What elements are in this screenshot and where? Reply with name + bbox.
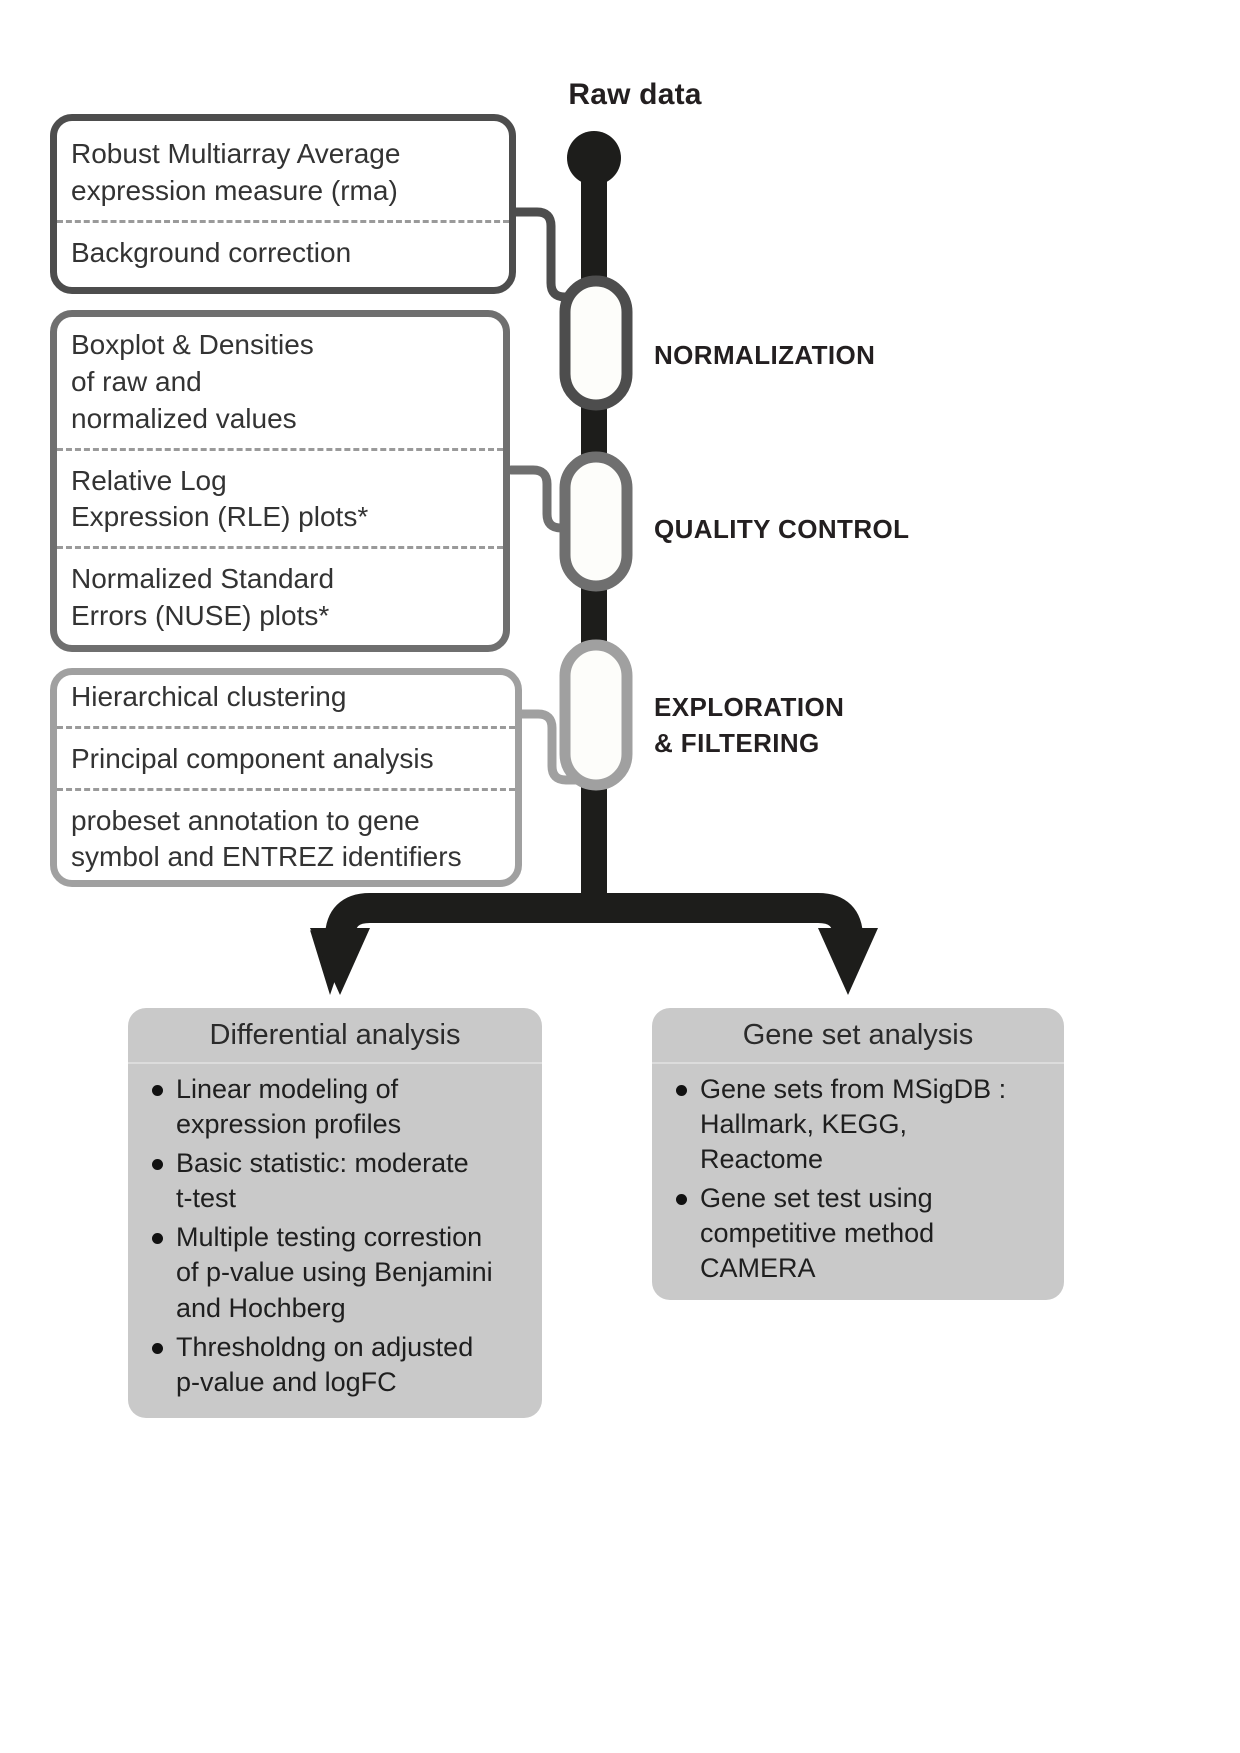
page-title: Raw data [505, 78, 765, 112]
connector-exploration [522, 714, 580, 780]
stage-row: probeset annotation to gene symbol and E… [57, 788, 515, 883]
list-item: Basic statistic: moderate t-test [146, 1146, 528, 1216]
stage-label-quality-control: QUALITY CONTROL [654, 512, 909, 548]
stage-box-normalization: Robust Multiarray Average expression mea… [50, 114, 516, 294]
fork-bar [340, 908, 848, 938]
spine-node-normalization [565, 281, 627, 405]
output-card-gene-set-analysis: Gene set analysis Gene sets from MSigDB … [652, 1008, 1064, 1300]
card-title: Differential analysis [128, 1008, 542, 1064]
connector-quality-control [511, 470, 577, 528]
list-item: Thresholdng on adjusted p-value and logF… [146, 1330, 528, 1400]
stage-row: Principal component analysis [57, 726, 515, 784]
output-card-differential-analysis: Differential analysis Linear modeling of… [128, 1008, 542, 1418]
arrow-right-triangle [818, 928, 878, 995]
diagram-canvas: Raw data Robust Multiarray Average expre… [0, 0, 1240, 1753]
stage-row: Relative Log Expression (RLE) plots* [57, 448, 503, 543]
spine-line [581, 158, 607, 898]
spine-node-quality-control [565, 457, 627, 586]
main-spine [567, 131, 621, 898]
card-bullet-list: Linear modeling of expression profiles B… [128, 1064, 542, 1416]
spine-node-exploration [565, 645, 627, 785]
connector-normalization [516, 212, 579, 297]
card-title: Gene set analysis [652, 1008, 1064, 1064]
list-item: Multiple testing correstion of p-value u… [146, 1220, 528, 1325]
stage-row: Background correction [57, 220, 509, 278]
arrow-left-triangle [310, 928, 370, 995]
stage-label-exploration-filtering: EXPLORATION & FILTERING [654, 690, 844, 762]
card-bullet-list: Gene sets from MSigDB : Hallmark, KEGG, … [652, 1064, 1064, 1300]
list-item: Linear modeling of expression profiles [146, 1072, 528, 1142]
stage-row: Boxplot & Densities of raw and normalize… [57, 321, 503, 444]
raw-data-node-dot [567, 131, 621, 185]
stage-box-quality-control: Boxplot & Densities of raw and normalize… [50, 310, 510, 652]
stage-row: Robust Multiarray Average expression mea… [57, 130, 509, 216]
stage-row: Hierarchical clustering [57, 673, 515, 722]
stage-row: Normalized Standard Errors (NUSE) plots* [57, 546, 503, 641]
stage-label-normalization: NORMALIZATION [654, 338, 875, 374]
stage-box-exploration-filtering: Hierarchical clustering Principal compon… [50, 668, 522, 887]
arrow-left-head [310, 930, 352, 995]
list-item: Gene set test using competitive method C… [670, 1181, 1050, 1286]
list-item: Gene sets from MSigDB : Hallmark, KEGG, … [670, 1072, 1050, 1177]
